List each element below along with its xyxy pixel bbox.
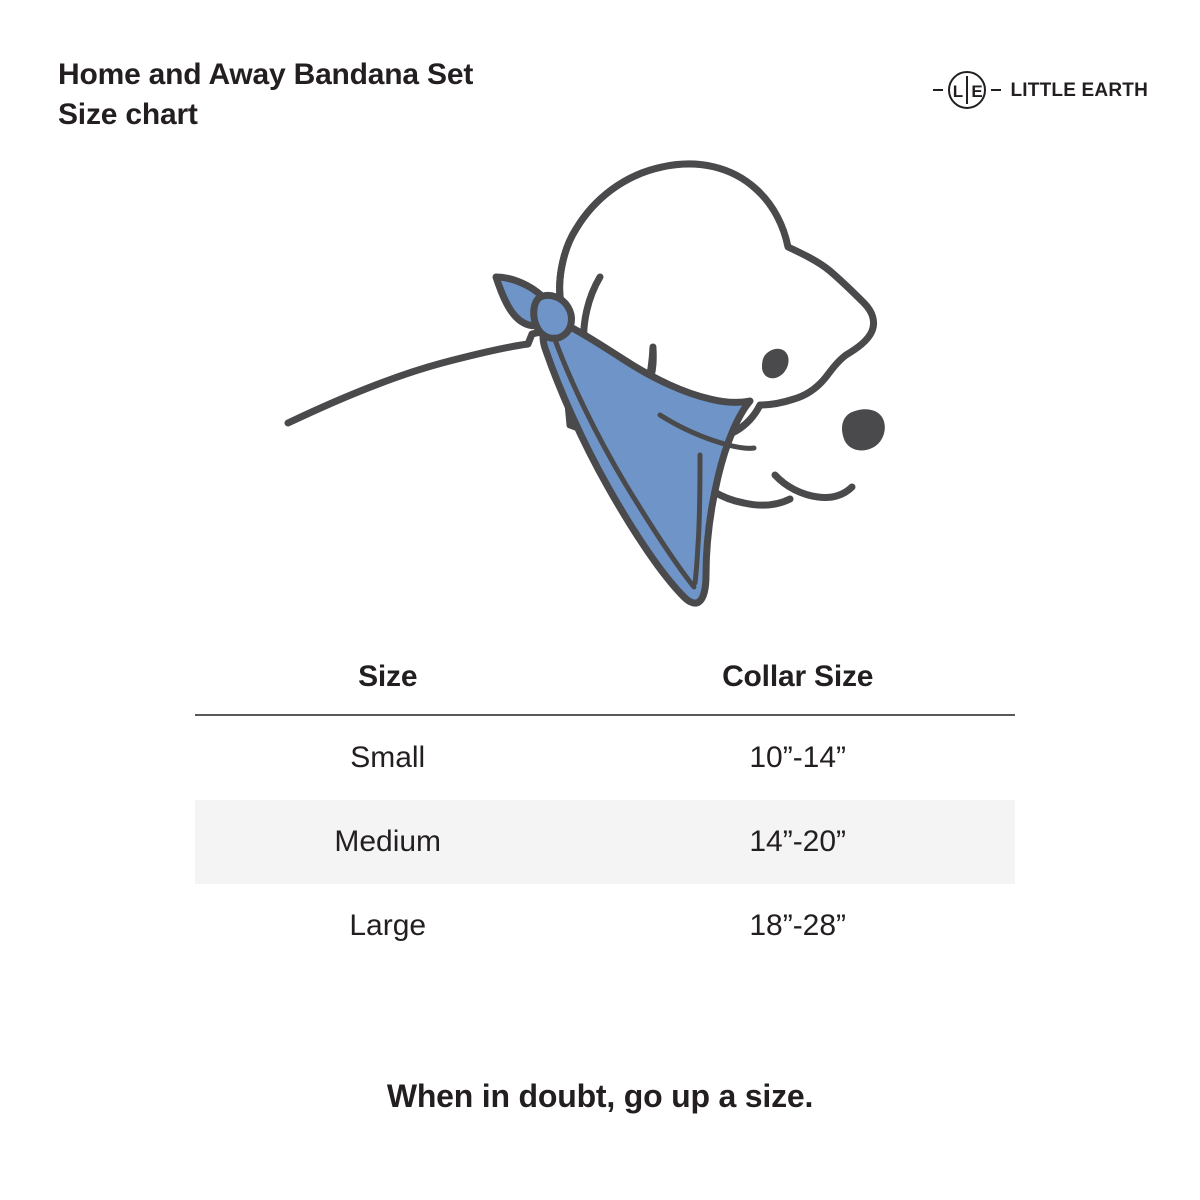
cell-size: Large	[195, 884, 580, 968]
page-title-line-1: Home and Away Bandana Set	[58, 55, 473, 95]
column-header-collar: Collar Size	[580, 660, 1015, 715]
cell-collar: 18”-28”	[580, 884, 1015, 968]
cell-collar: 10”-14”	[580, 715, 1015, 800]
svg-text:L: L	[952, 82, 962, 101]
dog-mouth-line	[775, 475, 852, 498]
dog-back-line	[288, 330, 550, 423]
brand-logo: L E LITTLE EARTH	[932, 70, 1149, 110]
column-header-size: Size	[195, 660, 580, 715]
little-earth-monogram-icon: L E	[932, 70, 1002, 110]
page-title: Home and Away Bandana Set Size chart	[58, 55, 473, 135]
page-header: Home and Away Bandana Set Size chart L E…	[0, 0, 1200, 140]
svg-text:E: E	[971, 82, 982, 101]
dog-nose	[842, 409, 885, 450]
table-row: Medium 14”-20”	[195, 800, 1015, 884]
table-row: Small 10”-14”	[195, 715, 1015, 800]
brand-wordmark: LITTLE EARTH	[1011, 81, 1149, 100]
table-row: Large 18”-28”	[195, 884, 1015, 968]
size-chart-table: Size Collar Size Small 10”-14” Medium 14…	[195, 660, 1015, 968]
bandana-knot	[534, 295, 572, 338]
dog-bandana-illustration	[270, 125, 930, 625]
table-header-row: Size Collar Size	[195, 660, 1015, 715]
cell-size: Small	[195, 715, 580, 800]
cell-size: Medium	[195, 800, 580, 884]
footnote-text: When in doubt, go up a size.	[0, 1078, 1200, 1115]
cell-collar: 14”-20”	[580, 800, 1015, 884]
